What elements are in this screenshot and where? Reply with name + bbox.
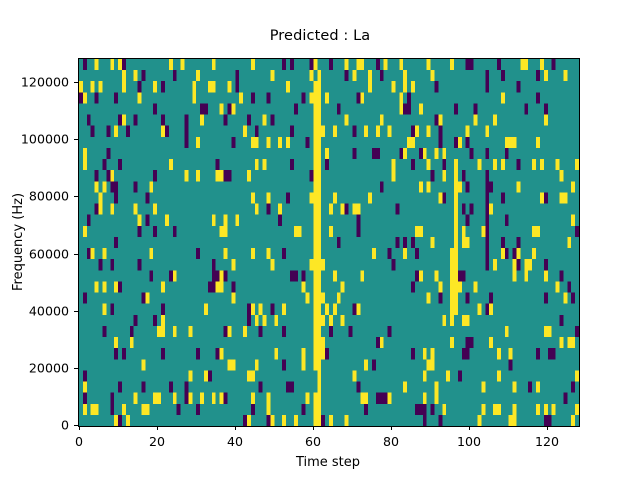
- xtick-mark-80: [391, 426, 392, 430]
- heatmap-axes: [78, 58, 580, 427]
- xtick-mark-20: [157, 426, 158, 430]
- ytick-mark-60000: [74, 254, 78, 255]
- xtick-label-20: 20: [149, 434, 165, 449]
- ytick-mark-80000: [74, 196, 78, 197]
- xtick-mark-40: [235, 426, 236, 430]
- xtick-label-60: 60: [305, 434, 321, 449]
- heatmap-canvas: [79, 59, 579, 426]
- xtick-label-120: 120: [535, 434, 559, 449]
- xtick-mark-120: [547, 426, 548, 430]
- ytick-mark-0: [74, 425, 78, 426]
- x-axis-label: Time step: [78, 455, 578, 470]
- y-axis-label-wrap: Frequency (Hz): [11, 0, 27, 480]
- xtick-label-40: 40: [227, 434, 243, 449]
- ytick-mark-20000: [74, 368, 78, 369]
- page-title: Predicted : La: [0, 28, 640, 44]
- ytick-mark-40000: [74, 311, 78, 312]
- ytick-mark-100000: [74, 139, 78, 140]
- xtick-label-100: 100: [457, 434, 481, 449]
- xtick-mark-100: [469, 426, 470, 430]
- xtick-label-0: 0: [75, 434, 83, 449]
- xtick-mark-0: [79, 426, 80, 430]
- xtick-mark-60: [313, 426, 314, 430]
- matplotlib-figure: Predicted : La 0 20000 40000 60000 80000…: [0, 0, 640, 480]
- xtick-label-80: 80: [383, 434, 399, 449]
- y-axis-label: Frequency (Hz): [11, 192, 26, 290]
- ytick-mark-120000: [74, 82, 78, 83]
